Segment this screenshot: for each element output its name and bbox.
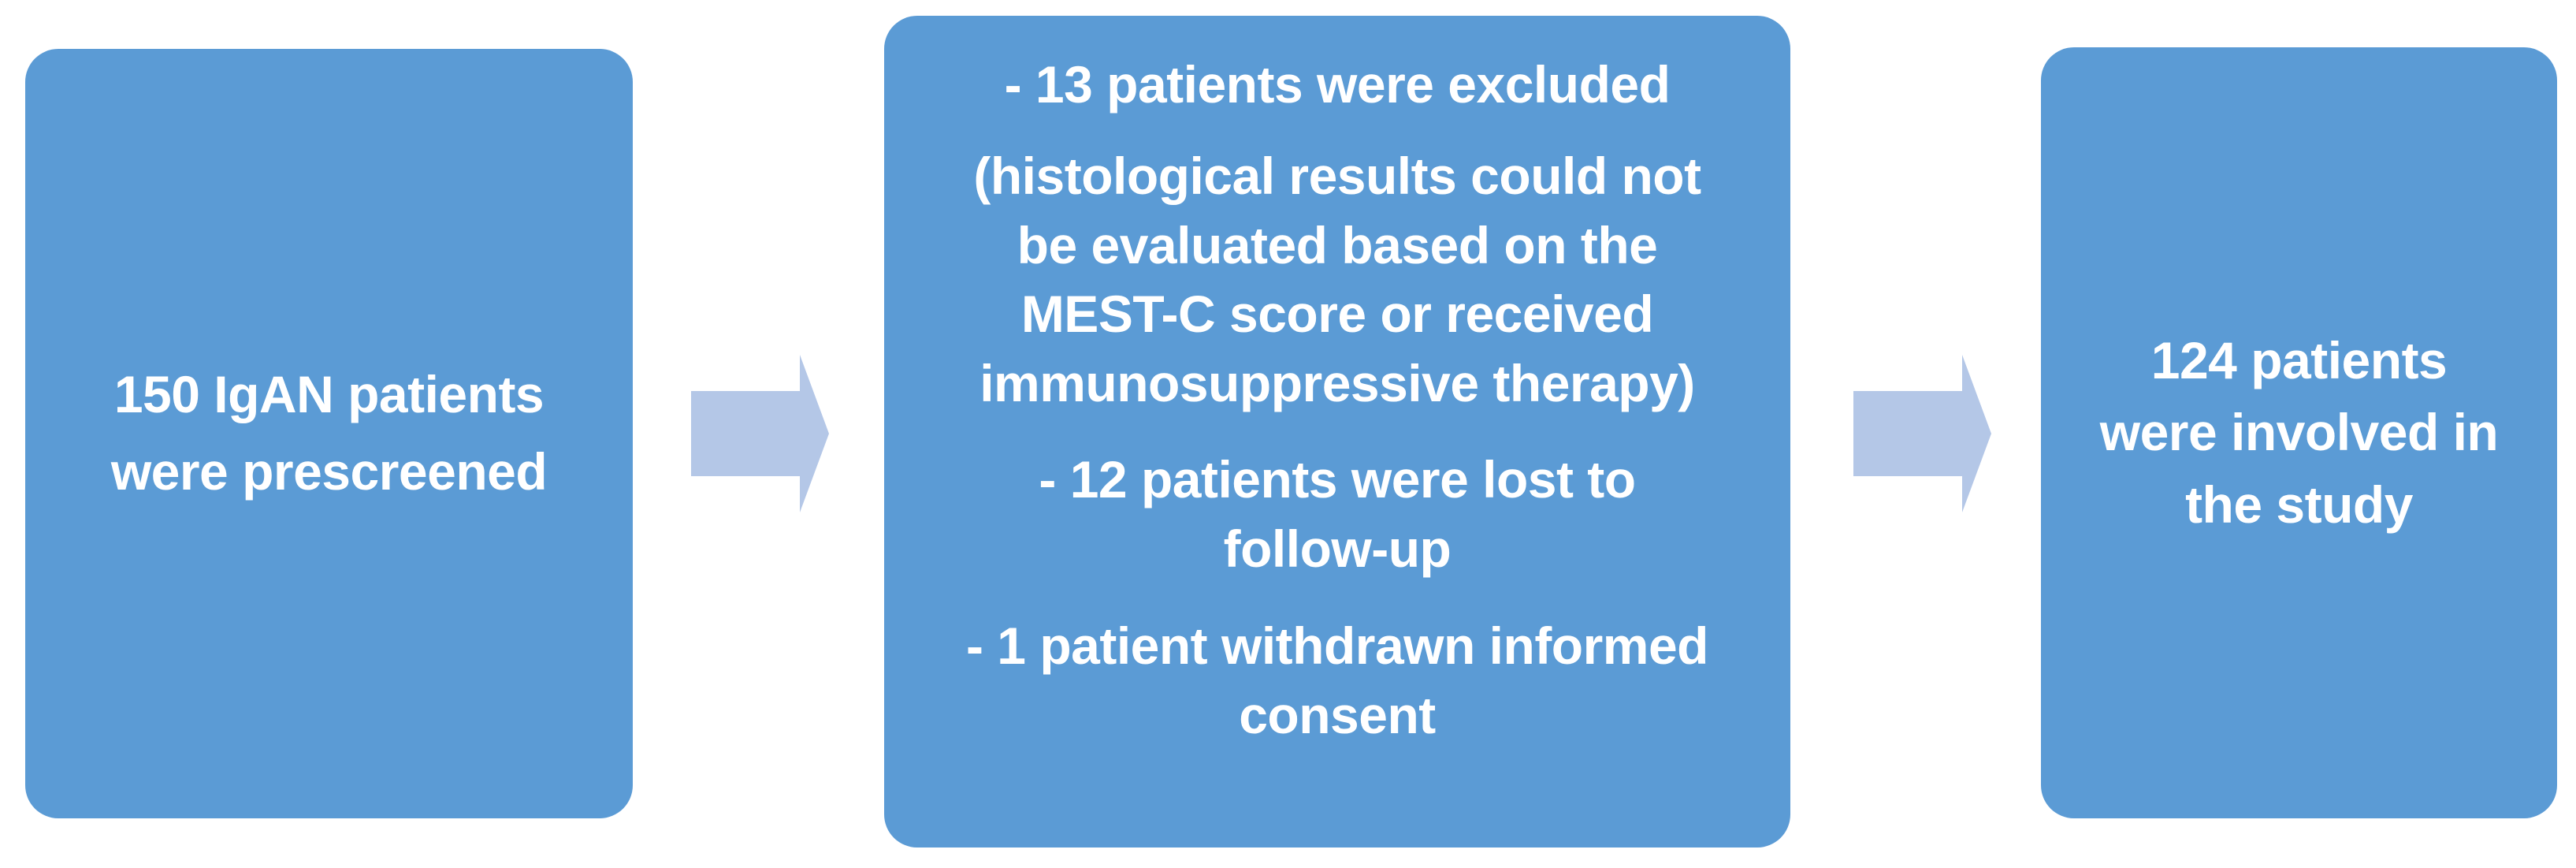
flowchart-canvas: 150 IgAN patients were prescreened - 13 … xyxy=(0,0,2576,868)
flow-box-prescreened[interactable]: 150 IgAN patients were prescreened xyxy=(25,49,633,818)
exclusion-group-excluded: - 13 patients were excluded xyxy=(898,50,1776,120)
withdrawn-line-2: consent xyxy=(898,681,1776,751)
lost-line-1: - 12 patients were lost to xyxy=(898,445,1776,515)
included-line-1: 124 patients xyxy=(2151,325,2448,397)
arrow-right-icon-1 xyxy=(691,355,829,512)
exclusion-group-withdrawn-consent: - 1 patient withdrawn informed consent xyxy=(898,612,1776,751)
histology-line-2: be evaluated based on the xyxy=(898,211,1776,281)
histology-line-4: immunosuppressive therapy) xyxy=(898,349,1776,419)
flow-box-exclusions[interactable]: - 13 patients were excluded (histologica… xyxy=(884,16,1790,848)
flow-box-included[interactable]: 124 patients were involved in the study xyxy=(2041,47,2557,818)
histology-line-1: (histological results could not xyxy=(898,142,1776,211)
prescreened-line-2: were prescreened xyxy=(111,434,547,511)
lost-line-2: follow-up xyxy=(898,515,1776,584)
exclusion-group-histology: (histological results could not be evalu… xyxy=(898,142,1776,419)
excluded-line-1: - 13 patients were excluded xyxy=(898,50,1776,120)
withdrawn-line-1: - 1 patient withdrawn informed xyxy=(898,612,1776,681)
exclusion-group-lost-to-follow-up: - 12 patients were lost to follow-up xyxy=(898,445,1776,584)
included-line-2: were involved in xyxy=(2100,397,2499,468)
included-line-3: the study xyxy=(2185,469,2413,541)
histology-line-3: MEST-C score or received xyxy=(898,280,1776,349)
prescreened-line-1: 150 IgAN patients xyxy=(114,356,544,434)
arrow-right-icon-2 xyxy=(1853,355,1991,512)
